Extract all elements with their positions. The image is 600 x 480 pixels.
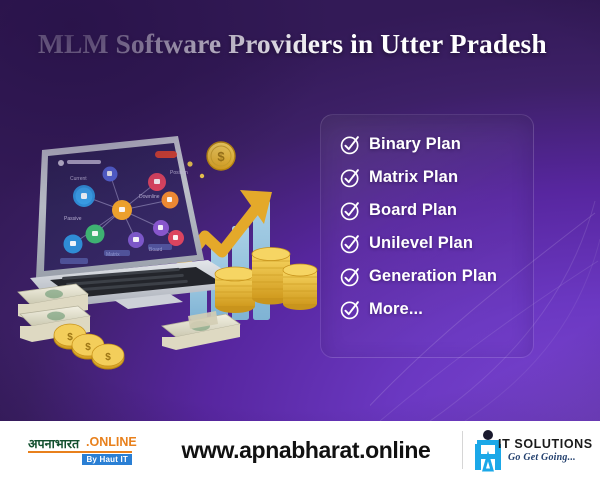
page-title: MLM Software Providers in Utter Pradesh xyxy=(38,28,578,60)
list-item[interactable]: Generation Plan xyxy=(340,260,590,293)
list-item-label: More... xyxy=(369,300,423,319)
ht-monogram-icon xyxy=(466,428,594,474)
list-item-label: Unilevel Plan xyxy=(369,234,473,253)
brand-logo-underline xyxy=(28,451,132,453)
list-item[interactable]: Matrix Plan xyxy=(340,161,590,194)
cash-bundle-right-graphic xyxy=(162,311,240,350)
list-item[interactable]: Unilevel Plan xyxy=(340,227,590,260)
svg-text:Current: Current xyxy=(70,176,87,182)
hero-illustration: $ xyxy=(12,118,322,376)
website-url[interactable]: www.apnabharat.online xyxy=(156,437,456,464)
list-item-label: Binary Plan xyxy=(369,135,461,154)
list-item[interactable]: Binary Plan xyxy=(340,128,590,161)
poster-root: $ xyxy=(0,0,600,480)
check-circle-icon xyxy=(340,233,361,254)
list-item-label: Generation Plan xyxy=(369,267,497,286)
list-item-label: Matrix Plan xyxy=(369,168,458,187)
brand-logo[interactable]: अपनाभारत .ONLINE By Haut IT xyxy=(28,435,132,465)
footer-divider xyxy=(462,431,463,469)
poster-background: $ xyxy=(0,0,600,421)
list-item[interactable]: Board Plan xyxy=(340,194,590,227)
svg-text:$: $ xyxy=(217,149,225,164)
brand-logo-domain-text: .ONLINE xyxy=(86,435,137,449)
partner-logo-name: IT SOLUTIONS xyxy=(498,437,593,451)
partner-logo-tagline: Go Get Going... xyxy=(508,452,576,463)
svg-text:Position: Position xyxy=(170,170,188,176)
brand-logo-byline: By Haut IT xyxy=(82,454,132,465)
check-circle-icon xyxy=(340,299,361,320)
list-item-label: Board Plan xyxy=(369,201,457,220)
svg-text:Downline: Downline xyxy=(139,194,160,200)
check-circle-icon xyxy=(340,134,361,155)
check-circle-icon xyxy=(340,266,361,287)
coin-stack-graphic xyxy=(215,248,317,314)
check-circle-icon xyxy=(340,167,361,188)
brand-logo-hindi-text: अपनाभारत xyxy=(28,435,79,452)
check-circle-icon xyxy=(340,200,361,221)
svg-text:Passive: Passive xyxy=(64,216,82,222)
svg-text:$: $ xyxy=(85,342,91,353)
svg-text:$: $ xyxy=(105,352,111,363)
list-item[interactable]: More... xyxy=(340,293,590,326)
svg-text:$: $ xyxy=(67,332,73,343)
dollar-coin-graphic: $ xyxy=(187,142,235,178)
plan-list: Binary Plan Matrix Plan Board Plan xyxy=(340,128,590,326)
